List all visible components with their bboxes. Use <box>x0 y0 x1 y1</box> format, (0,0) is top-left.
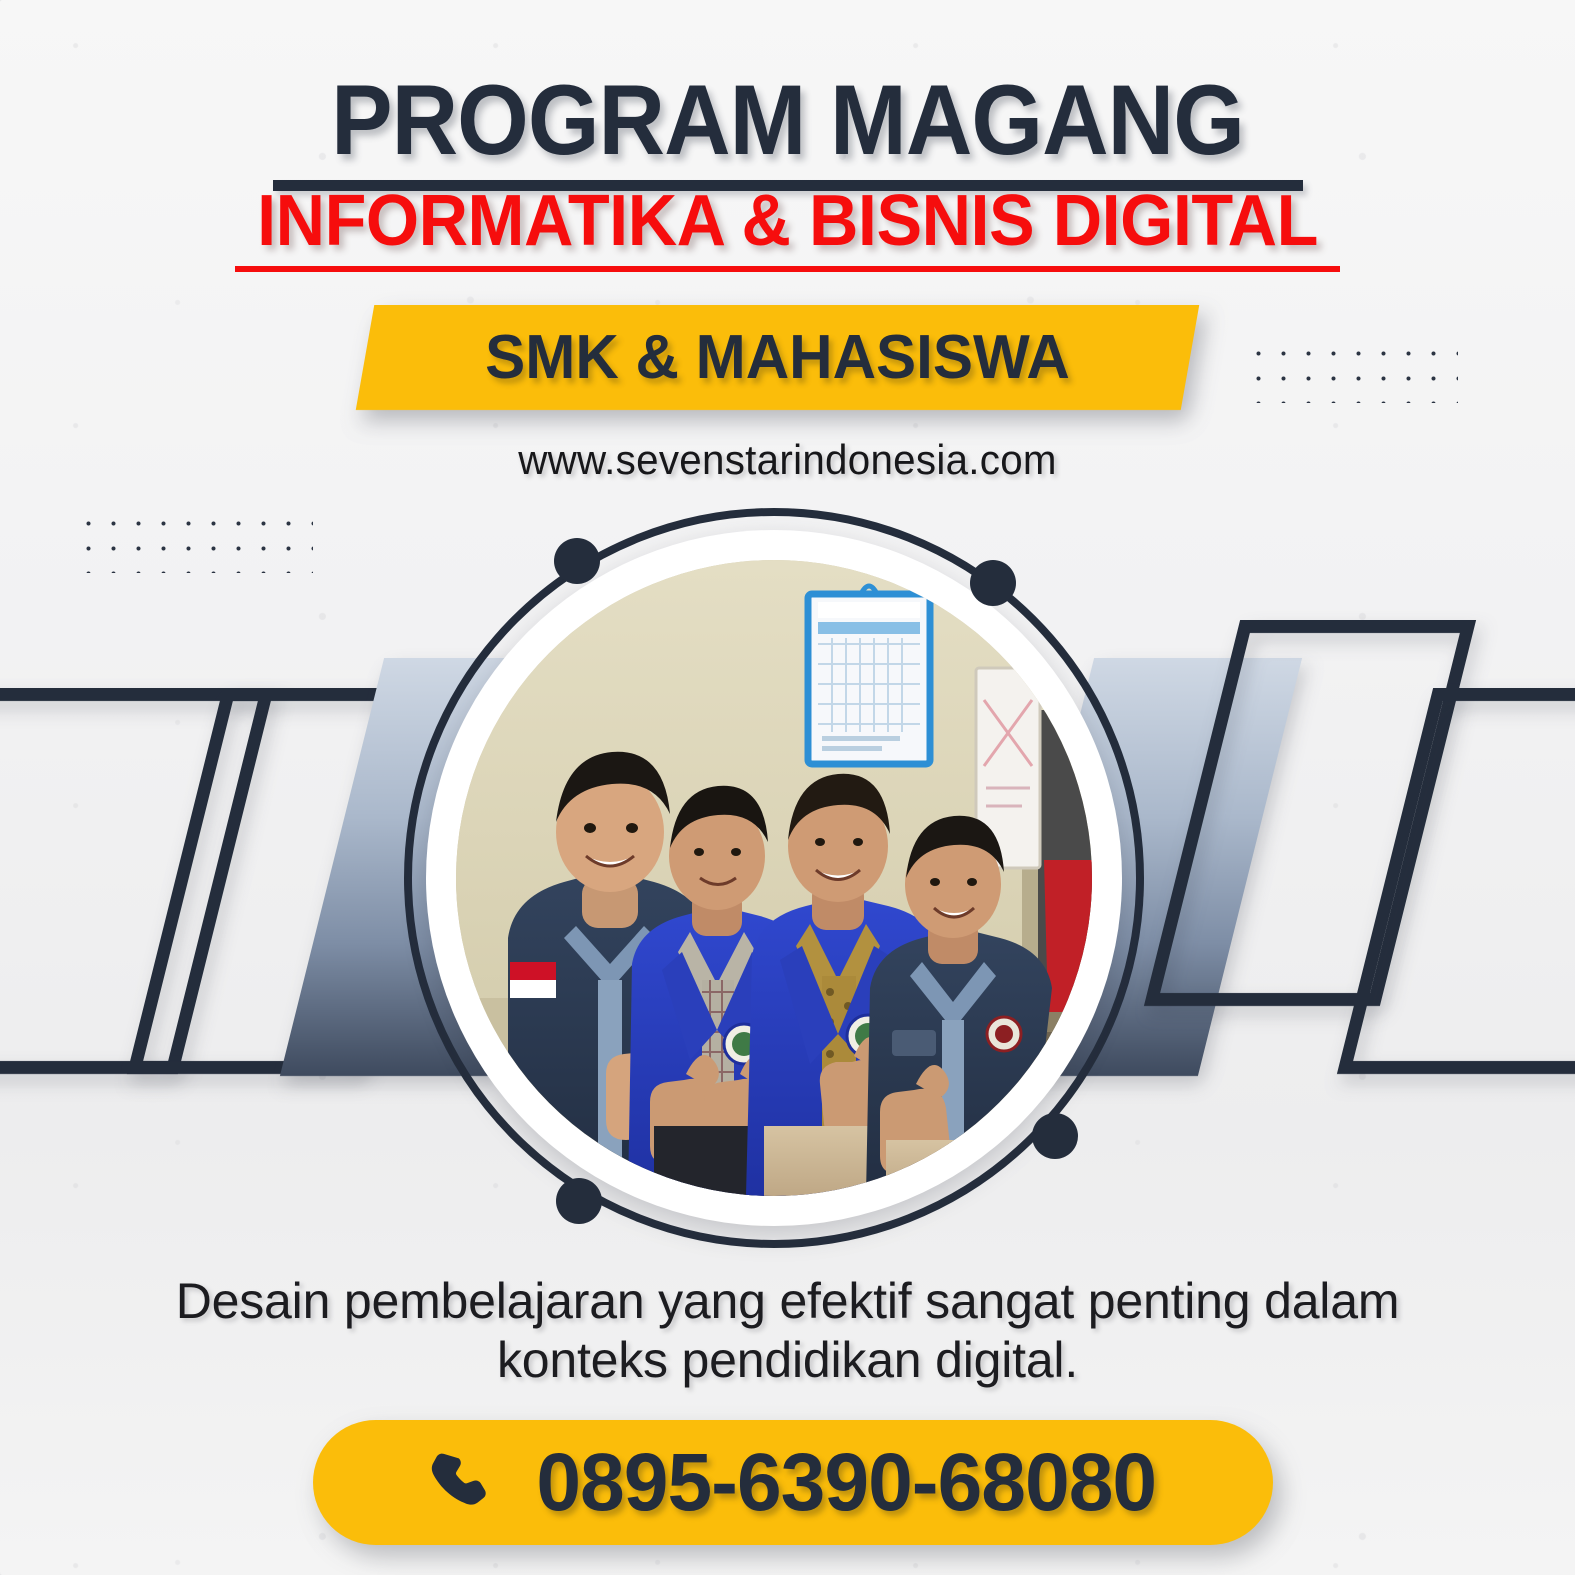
ring-dot-top-left <box>554 538 600 584</box>
phone-cta-pill[interactable]: 0895-6390-68080 <box>313 1420 1273 1545</box>
audience-banner-label: SMK & MAHASISWA <box>377 305 1177 410</box>
subtitle-underline <box>235 266 1340 272</box>
dot-grid-right <box>1243 338 1458 403</box>
title-block: PROGRAM MAGANG <box>0 70 1575 191</box>
poster-canvas: PROGRAM MAGANG INFORMATIKA & BISNIS DIGI… <box>0 0 1575 1575</box>
page-title: PROGRAM MAGANG <box>55 70 1520 169</box>
phone-handset-icon <box>424 1447 496 1519</box>
ring-dot-bottom-right <box>1032 1113 1078 1159</box>
ring-dot-bottom-left <box>556 1178 602 1224</box>
dot-grid-left <box>73 508 313 573</box>
ring-dot-top-right <box>970 560 1016 606</box>
team-photo-illustration <box>456 560 1092 1196</box>
tagline-text: Desain pembelajaran yang efektif sangat … <box>120 1272 1455 1390</box>
phone-number: 0895-6390-68080 <box>536 1436 1156 1530</box>
website-url[interactable]: www.sevenstarindonesia.com <box>32 436 1544 484</box>
team-photo <box>456 560 1092 1196</box>
subtitle-block: INFORMATIKA & BISNIS DIGITAL <box>0 185 1575 272</box>
page-subtitle: INFORMATIKA & BISNIS DIGITAL <box>39 185 1535 257</box>
